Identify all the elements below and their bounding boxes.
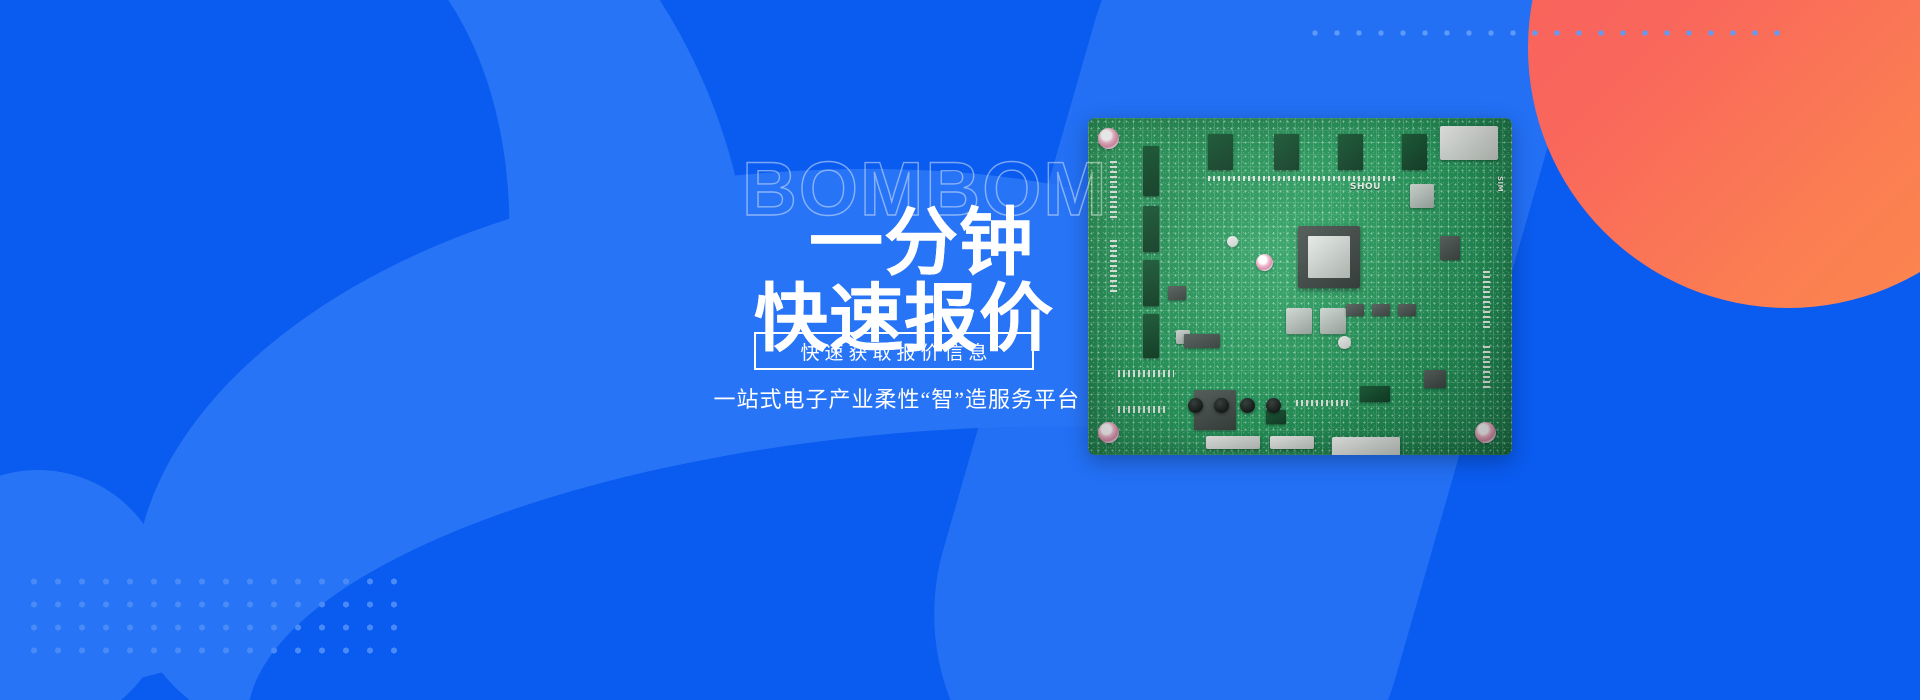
banner-content: BOMBOM 一分钟 快速报价 快速获取报价信息 一站式电子产业柔性“智”造服务…	[0, 0, 1920, 700]
banner-subtitle: 一站式电子产业柔性“智”造服务平台	[600, 382, 1080, 414]
headline-line-1: 一分钟	[792, 205, 1034, 281]
get-quote-button[interactable]: 快速获取报价信息	[754, 332, 1034, 370]
promo-banner: SIM SHOU	[0, 0, 1920, 700]
get-quote-button-label: 快速获取报价信息	[795, 338, 992, 365]
